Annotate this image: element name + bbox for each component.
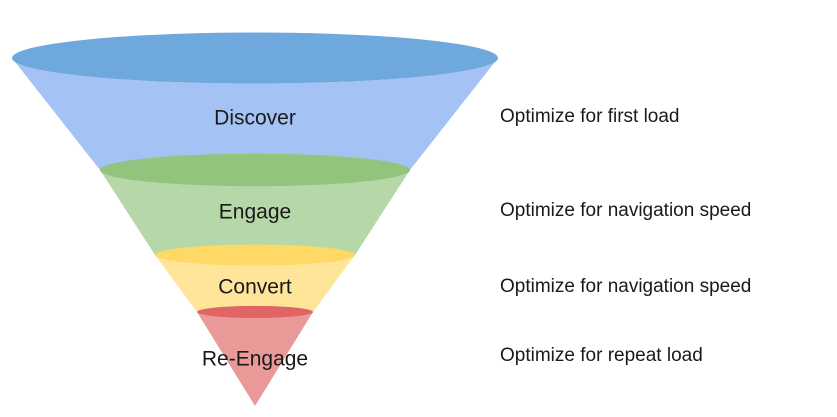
- segment-label-engage: Engage: [219, 201, 291, 224]
- annotation-discover: Optimize for first load: [500, 107, 680, 126]
- segment-label-re-engage: Re-Engage: [202, 348, 308, 371]
- segment-label-convert: Convert: [218, 276, 292, 299]
- segment-cap-re-engage: [197, 306, 313, 318]
- funnel-diagram: Discover Engage Convert Re-Engage Optimi…: [0, 0, 837, 417]
- annotation-engage: Optimize for navigation speed: [500, 201, 751, 220]
- annotation-re-engage: Optimize for repeat load: [500, 346, 703, 365]
- segment-label-discover: Discover: [214, 107, 296, 130]
- funnel-segment-re-engage[interactable]: Re-Engage: [197, 306, 313, 406]
- segment-cap-convert: [155, 245, 355, 266]
- segment-cap-engage: [100, 154, 410, 187]
- segment-cap-discover: [12, 33, 498, 84]
- annotation-convert: Optimize for navigation speed: [500, 277, 751, 296]
